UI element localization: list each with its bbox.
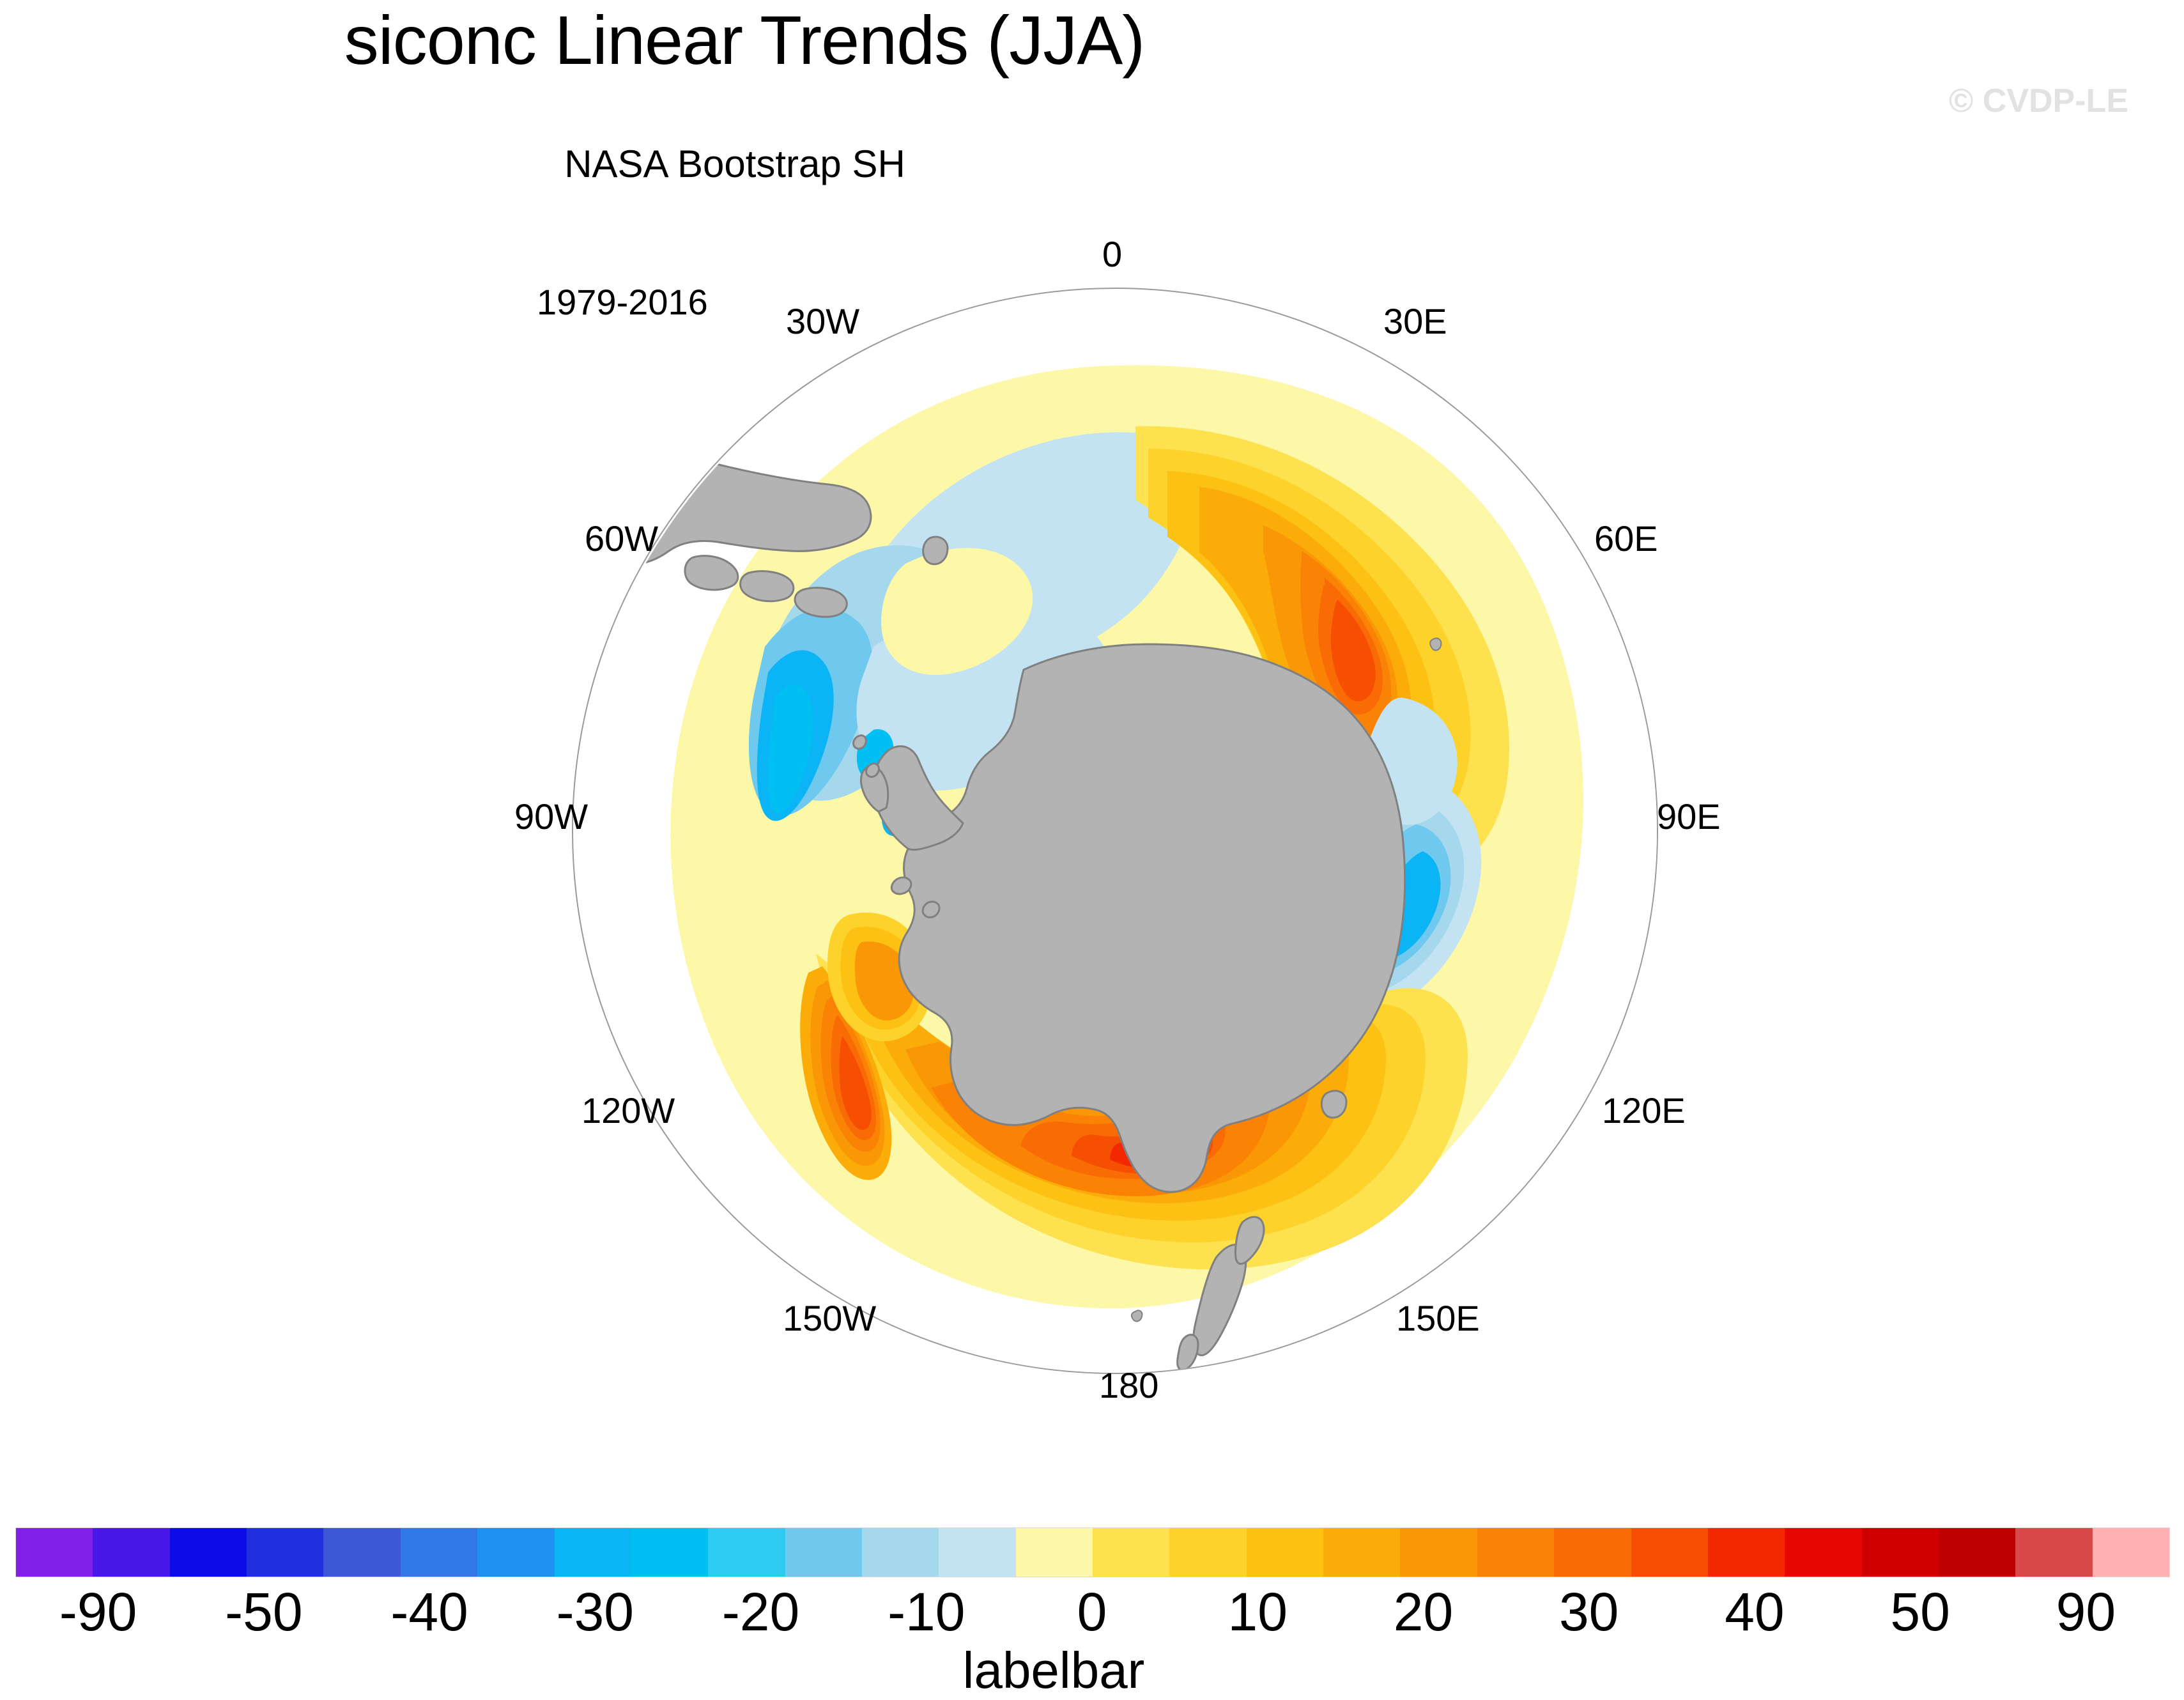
colorbar-caption-text: labelbar <box>963 1641 1145 1700</box>
colorbar-swatch[interactable] <box>1939 1528 2015 1577</box>
lon-label-180: 180 <box>1099 1364 1158 1406</box>
colorbar-swatch[interactable] <box>1400 1528 1477 1577</box>
lon-label-120w: 120W <box>581 1090 675 1131</box>
colorbar-tick-label: 20 <box>1394 1581 1453 1643</box>
colorbar-swatch[interactable] <box>477 1528 554 1577</box>
cvdp-watermark: © CVDP-LE <box>1949 82 2128 120</box>
colorbar-swatch[interactable] <box>323 1528 400 1577</box>
colorbar-swatch[interactable] <box>1016 1528 1093 1577</box>
colorbar-swatch[interactable] <box>1554 1528 1631 1577</box>
colorbar-tick-label: -20 <box>722 1581 799 1643</box>
colorbar-tick-label: -30 <box>557 1581 634 1643</box>
lon-label-120e: 120E <box>1602 1090 1686 1131</box>
colorbar-swatch[interactable] <box>708 1528 785 1577</box>
lon-label-60w: 60W <box>585 518 658 559</box>
colorbar-tick-label: -50 <box>225 1581 302 1643</box>
lon-label-90w: 90W <box>514 796 588 837</box>
lon-label-150e: 150E <box>1396 1297 1480 1339</box>
colorbar-swatch[interactable] <box>2015 1528 2092 1577</box>
colorbar-swatch[interactable] <box>1093 1528 1169 1577</box>
lon-label-30e: 30E <box>1383 300 1447 342</box>
colorbar-tick-label: 10 <box>1228 1581 1288 1643</box>
colorbar-swatch[interactable] <box>1785 1528 1861 1577</box>
lon-label-30w: 30W <box>786 300 859 342</box>
colorbar-tick-label: 30 <box>1559 1581 1619 1643</box>
colorbar-tick-label: 50 <box>1890 1581 1949 1643</box>
colorbar-swatch[interactable] <box>1247 1528 1323 1577</box>
colorbar-tick-label: -40 <box>390 1581 468 1643</box>
colorbar-swatch[interactable] <box>401 1528 477 1577</box>
colorbar-swatch[interactable] <box>247 1528 323 1577</box>
colorbar-swatch[interactable] <box>1323 1528 1400 1577</box>
colorbar-swatch[interactable] <box>93 1528 169 1577</box>
lon-label-150w: 150W <box>783 1297 876 1339</box>
colorbar-tick-label: 40 <box>1725 1581 1784 1643</box>
polar-map: 0 30E 60E 90E 120E 150E 180 150W 120W 90… <box>540 259 1690 1409</box>
colorbar-swatch[interactable] <box>2093 1528 2169 1577</box>
colorbar-swatch[interactable] <box>862 1528 939 1577</box>
map-boundary-circle <box>572 288 1658 1374</box>
colorbar-tick-label: -10 <box>888 1581 965 1643</box>
colorbar-caption: labelbar <box>0 1641 2184 1700</box>
colorbar-swatch[interactable] <box>1169 1528 1246 1577</box>
colorbar-swatch[interactable] <box>1477 1528 1554 1577</box>
colorbar-tick-label: 90 <box>2056 1581 2116 1643</box>
colorbar-tick-label: 0 <box>1077 1581 1107 1643</box>
colorbar-swatch[interactable] <box>939 1528 1015 1577</box>
colorbar-swatch[interactable] <box>16 1528 93 1577</box>
sea-ice-trend-field <box>573 289 1658 1374</box>
lon-label-60e: 60E <box>1594 518 1658 559</box>
colorbar-tick-label: -90 <box>59 1581 137 1643</box>
colorbar-ticks: -90-50-40-30-20-100102030405090 <box>15 1581 2169 1642</box>
chart-subtitle: NASA Bootstrap SH <box>358 142 1112 186</box>
colorbar-swatch[interactable] <box>1708 1528 1785 1577</box>
colorbar-swatch[interactable] <box>631 1528 708 1577</box>
colorbar-swatch[interactable] <box>1862 1528 1939 1577</box>
colorbar-swatch[interactable] <box>170 1528 247 1577</box>
colorbar-swatch[interactable] <box>1631 1528 1708 1577</box>
page-title: siconc Linear Trends (JJA) <box>0 3 1489 79</box>
colorbar-swatch[interactable] <box>555 1528 631 1577</box>
lon-label-90e: 90E <box>1657 796 1721 837</box>
colorbar[interactable] <box>15 1527 2170 1577</box>
lon-label-0: 0 <box>1102 233 1122 275</box>
colorbar-swatch[interactable] <box>785 1528 862 1577</box>
